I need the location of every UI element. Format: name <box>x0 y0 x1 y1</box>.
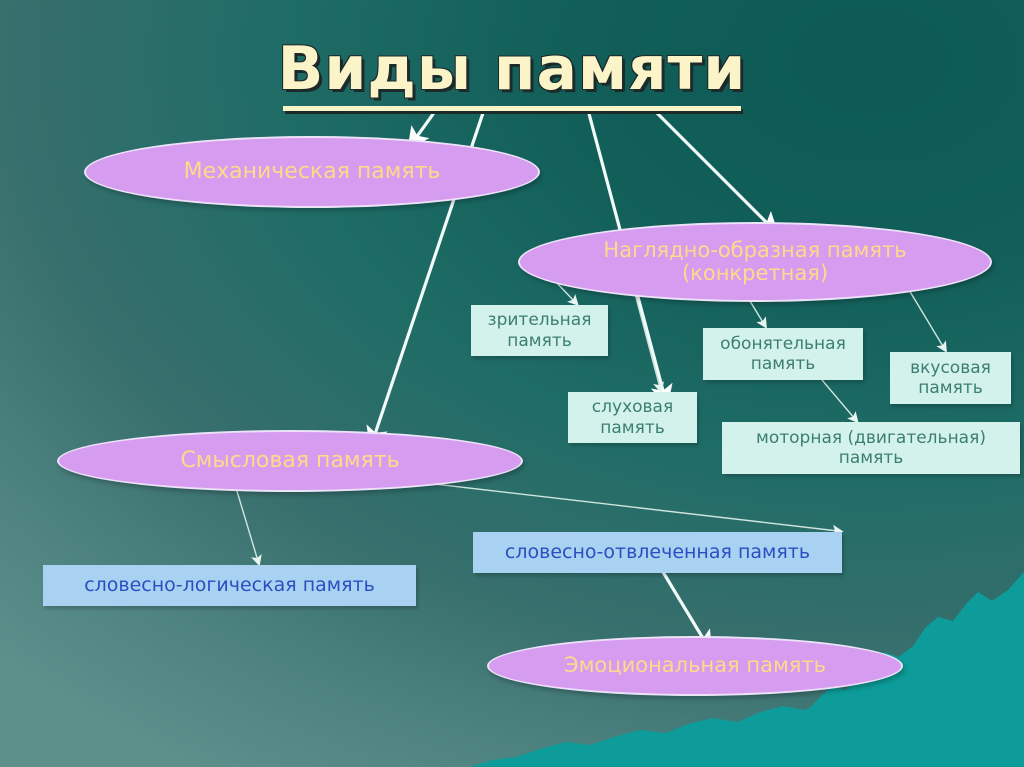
node-motor-memory[interactable]: моторная (двигательная) память <box>722 422 1020 474</box>
node-motor-memory-label-line1: моторная (двигательная) <box>756 428 986 448</box>
node-hearing-memory-label-line1: слуховая <box>592 397 673 417</box>
node-verbal-abstract-memory[interactable]: словесно-отвлеченная память <box>473 532 842 573</box>
node-hearing-memory-label-line2: память <box>600 418 665 438</box>
node-taste-memory[interactable]: вкусовая память <box>890 352 1011 404</box>
node-taste-memory-label-line1: вкусовая <box>910 358 991 378</box>
node-visual-figurative-memory-label-line2: (конкретная) <box>682 262 828 285</box>
node-sight-memory-label-line1: зрительная <box>488 310 592 330</box>
title-underline <box>283 106 741 111</box>
edge-semantic-to-verbal-abstract <box>400 480 838 531</box>
edge-title-to-mechanical <box>413 110 436 142</box>
node-mechanical-memory-label: Механическая память <box>184 160 441 184</box>
node-sight-memory-label-line2: память <box>507 331 572 351</box>
node-smell-memory[interactable]: обонятельная память <box>703 328 863 380</box>
node-emotional-memory-label: Эмоциональная память <box>564 654 826 677</box>
node-mechanical-memory[interactable]: Механическая память <box>84 136 540 208</box>
edge-verbal-abstract-to-emotional <box>663 572 707 645</box>
page-title: Виды памяти <box>0 34 1024 104</box>
node-verbal-logical-memory[interactable]: словесно-логическая память <box>43 565 416 606</box>
node-taste-memory-label-line2: память <box>918 378 983 398</box>
slide-canvas: Виды памяти Механическая память Наглядно… <box>0 0 1024 767</box>
node-visual-figurative-memory[interactable]: Наглядно-образная память (конкретная) <box>518 222 992 302</box>
edge-smell-to-motor <box>822 380 855 419</box>
node-semantic-memory-label: Смысловая память <box>180 449 399 473</box>
edge-visual-to-hearing <box>634 290 660 388</box>
node-sight-memory[interactable]: зрительная память <box>471 305 608 356</box>
node-semantic-memory[interactable]: Смысловая память <box>57 430 523 492</box>
node-emotional-memory[interactable]: Эмоциональная память <box>487 636 903 696</box>
node-hearing-memory[interactable]: слуховая память <box>568 392 697 443</box>
edge-title-to-visual-figurative <box>654 110 772 228</box>
node-smell-memory-label-line1: обонятельная <box>720 334 846 354</box>
node-verbal-abstract-memory-label: словесно-отвлеченная память <box>505 541 810 564</box>
node-visual-figurative-memory-label-line1: Наглядно-образная память <box>603 239 906 262</box>
node-motor-memory-label-line2: память <box>839 448 904 468</box>
node-verbal-logical-memory-label: словесно-логическая память <box>84 574 375 597</box>
node-smell-memory-label-line2: память <box>751 354 816 374</box>
